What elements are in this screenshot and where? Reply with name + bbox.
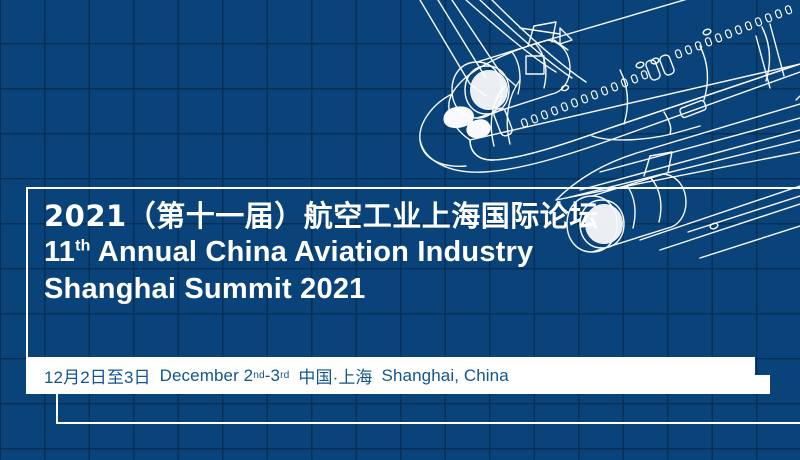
event-title-english-line1: 11th Annual China Aviation Industry <box>44 234 684 271</box>
english-title-ordinal-suffix: th <box>75 237 90 254</box>
frame-bottom-rule <box>56 422 800 424</box>
date-english-prefix: December 2 <box>160 366 254 386</box>
date-english-middle: -3 <box>265 366 280 386</box>
frame-left-rule <box>26 187 28 359</box>
date-location-text: 12月2日至3日December 2nd-3rd中国·上海Shanghai, C… <box>44 357 509 394</box>
english-title-ordinal-number: 11 <box>44 236 75 268</box>
location-chinese: 中国·上海 <box>298 363 372 388</box>
english-title-rest: Annual China Aviation Industry <box>91 236 534 268</box>
frame-top-rule <box>26 187 800 189</box>
date-chinese: 12月2日至3日 <box>44 363 151 388</box>
event-title-chinese: 2021（第十一届）航空工业上海国际论坛 <box>44 198 684 234</box>
frame-bottom-stub-rule <box>56 393 58 424</box>
location-english: Shanghai, China <box>382 366 509 386</box>
event-title-block: 2021（第十一届）航空工业上海国际论坛 11th Annual China A… <box>44 198 684 308</box>
event-banner: 2021（第十一届）航空工业上海国际论坛 11th Annual China A… <box>0 0 800 460</box>
event-title-english-line2: Shanghai Summit 2021 <box>44 271 684 308</box>
